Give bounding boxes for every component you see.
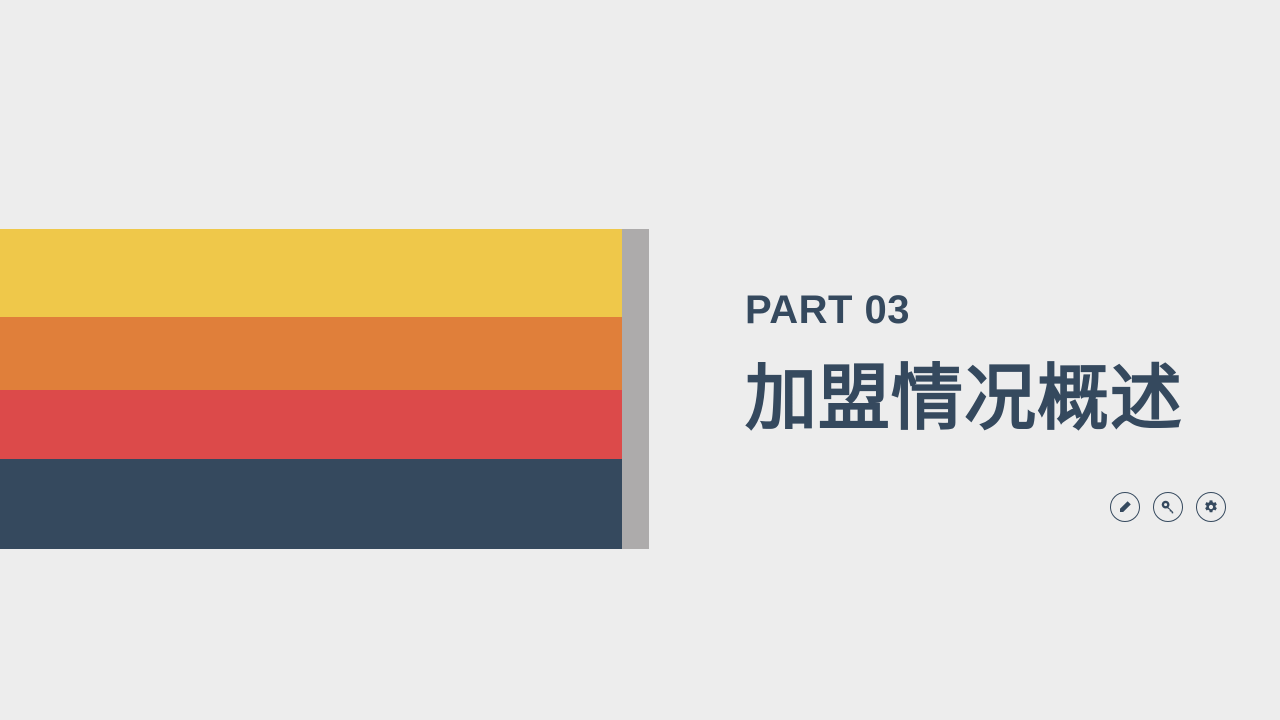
pencil-icon-button[interactable] [1110,492,1140,522]
color-bar-stack [0,229,622,549]
pencil-icon [1117,499,1133,515]
title-block: PART 03 加盟情况概述 [745,290,1215,434]
icon-row [1110,492,1226,522]
bar-orange [0,317,622,390]
decorative-color-bars [0,229,649,549]
part-label: PART 03 [745,290,1215,330]
slide-canvas: PART 03 加盟情况概述 [0,0,1280,720]
gear-icon [1203,499,1219,515]
bar-red [0,390,622,459]
key-icon [1160,499,1176,515]
key-icon-button[interactable] [1153,492,1183,522]
gray-accent-strip [622,229,649,549]
bar-navy [0,459,622,549]
bar-yellow [0,229,622,317]
gear-icon-button[interactable] [1196,492,1226,522]
page-title: 加盟情况概述 [745,362,1215,434]
